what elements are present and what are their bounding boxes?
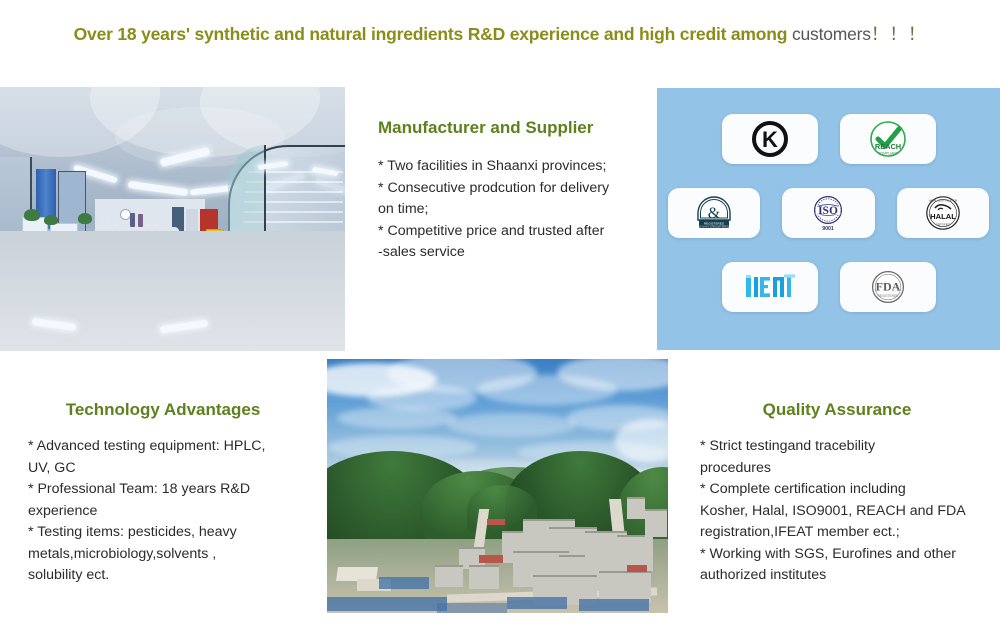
reach-compliant-icon: REACH COMPLIANT [867, 118, 909, 160]
fda-registered-badge[interactable]: FDA REGISTERED [840, 262, 936, 312]
svg-text:FDA: FDA [875, 280, 900, 294]
certification-row-1: K REACH COMPLIANT [657, 114, 1000, 164]
laboratory-panorama-image [0, 87, 345, 351]
svg-text:&: & [708, 205, 721, 222]
aerial-town-panorama-image [327, 359, 668, 613]
svg-text:HALAL CERTIFICATION: HALAL CERTIFICATION [929, 199, 958, 203]
svg-text:CERTIFIED: CERTIFIED [935, 223, 950, 227]
page-headline: Over 18 years' synthetic and natural ing… [0, 22, 1000, 46]
iso-9001-icon: ISO 9001 [807, 192, 849, 234]
manufacturer-supplier-block: Manufacturer and Supplier * Two faciliti… [378, 118, 654, 264]
quality-heading: Quality Assurance [700, 400, 992, 420]
svg-text:COMPLIANT: COMPLIANT [878, 151, 898, 155]
manufacturer-heading: Manufacturer and Supplier [378, 118, 654, 138]
svg-text:REGISTERED: REGISTERED [877, 294, 898, 298]
fda-registered-icon: FDA REGISTERED [867, 267, 909, 307]
brand-registered-icon: & REGISTERED D-U-N-S 27REGISTERED [692, 193, 736, 233]
headline-exclamations: ！！！ [871, 24, 927, 44]
certification-row-3: FDA REGISTERED [657, 262, 1000, 312]
svg-text:9001: 9001 [823, 226, 835, 232]
halal-icon: HALAL CERTIFIED HALAL CERTIFICATION [922, 192, 964, 234]
reach-certification-badge[interactable]: REACH COMPLIANT [840, 114, 936, 164]
company-profile-banner: Over 18 years' synthetic and natural ing… [0, 0, 1000, 641]
technology-advantages-block: Technology Advantages * Advanced testing… [28, 400, 328, 587]
manufacturer-body: * Two facilities in Shaanxi provinces; *… [378, 156, 654, 264]
quality-body: * Strict testingand tracebility procedur… [700, 436, 992, 587]
svg-text:REACH: REACH [874, 142, 900, 151]
headline-tail-text: customers [792, 24, 871, 44]
svg-text:HALAL: HALAL [930, 212, 956, 221]
certification-row-2: & REGISTERED D-U-N-S 27REGISTERED ISO 90… [657, 188, 1000, 238]
technology-body: * Advanced testing equipment: HPLC, UV, … [28, 436, 328, 587]
headline-main-text: Over 18 years' synthetic and natural ing… [74, 24, 792, 44]
kosher-k-icon: K [750, 119, 790, 159]
kosher-certification-badge[interactable]: K [722, 114, 818, 164]
svg-text:D-U-N-S 27REGISTERED: D-U-N-S 27REGISTERED [700, 225, 730, 228]
svg-text:ISO: ISO [819, 205, 839, 217]
halal-certification-badge[interactable]: HALAL CERTIFIED HALAL CERTIFICATION [897, 188, 989, 238]
quality-assurance-block: Quality Assurance * Strict testingand tr… [700, 400, 992, 587]
technology-heading: Technology Advantages [28, 400, 328, 420]
svg-text:K: K [762, 127, 778, 152]
iso-certification-badge[interactable]: ISO 9001 [782, 188, 874, 238]
brand-registered-certification-badge[interactable]: & REGISTERED D-U-N-S 27REGISTERED [668, 188, 760, 238]
ifeat-membership-badge[interactable] [722, 262, 818, 312]
ifeat-icon [740, 272, 800, 302]
certifications-panel: K REACH COMPLIANT & [657, 88, 1000, 350]
